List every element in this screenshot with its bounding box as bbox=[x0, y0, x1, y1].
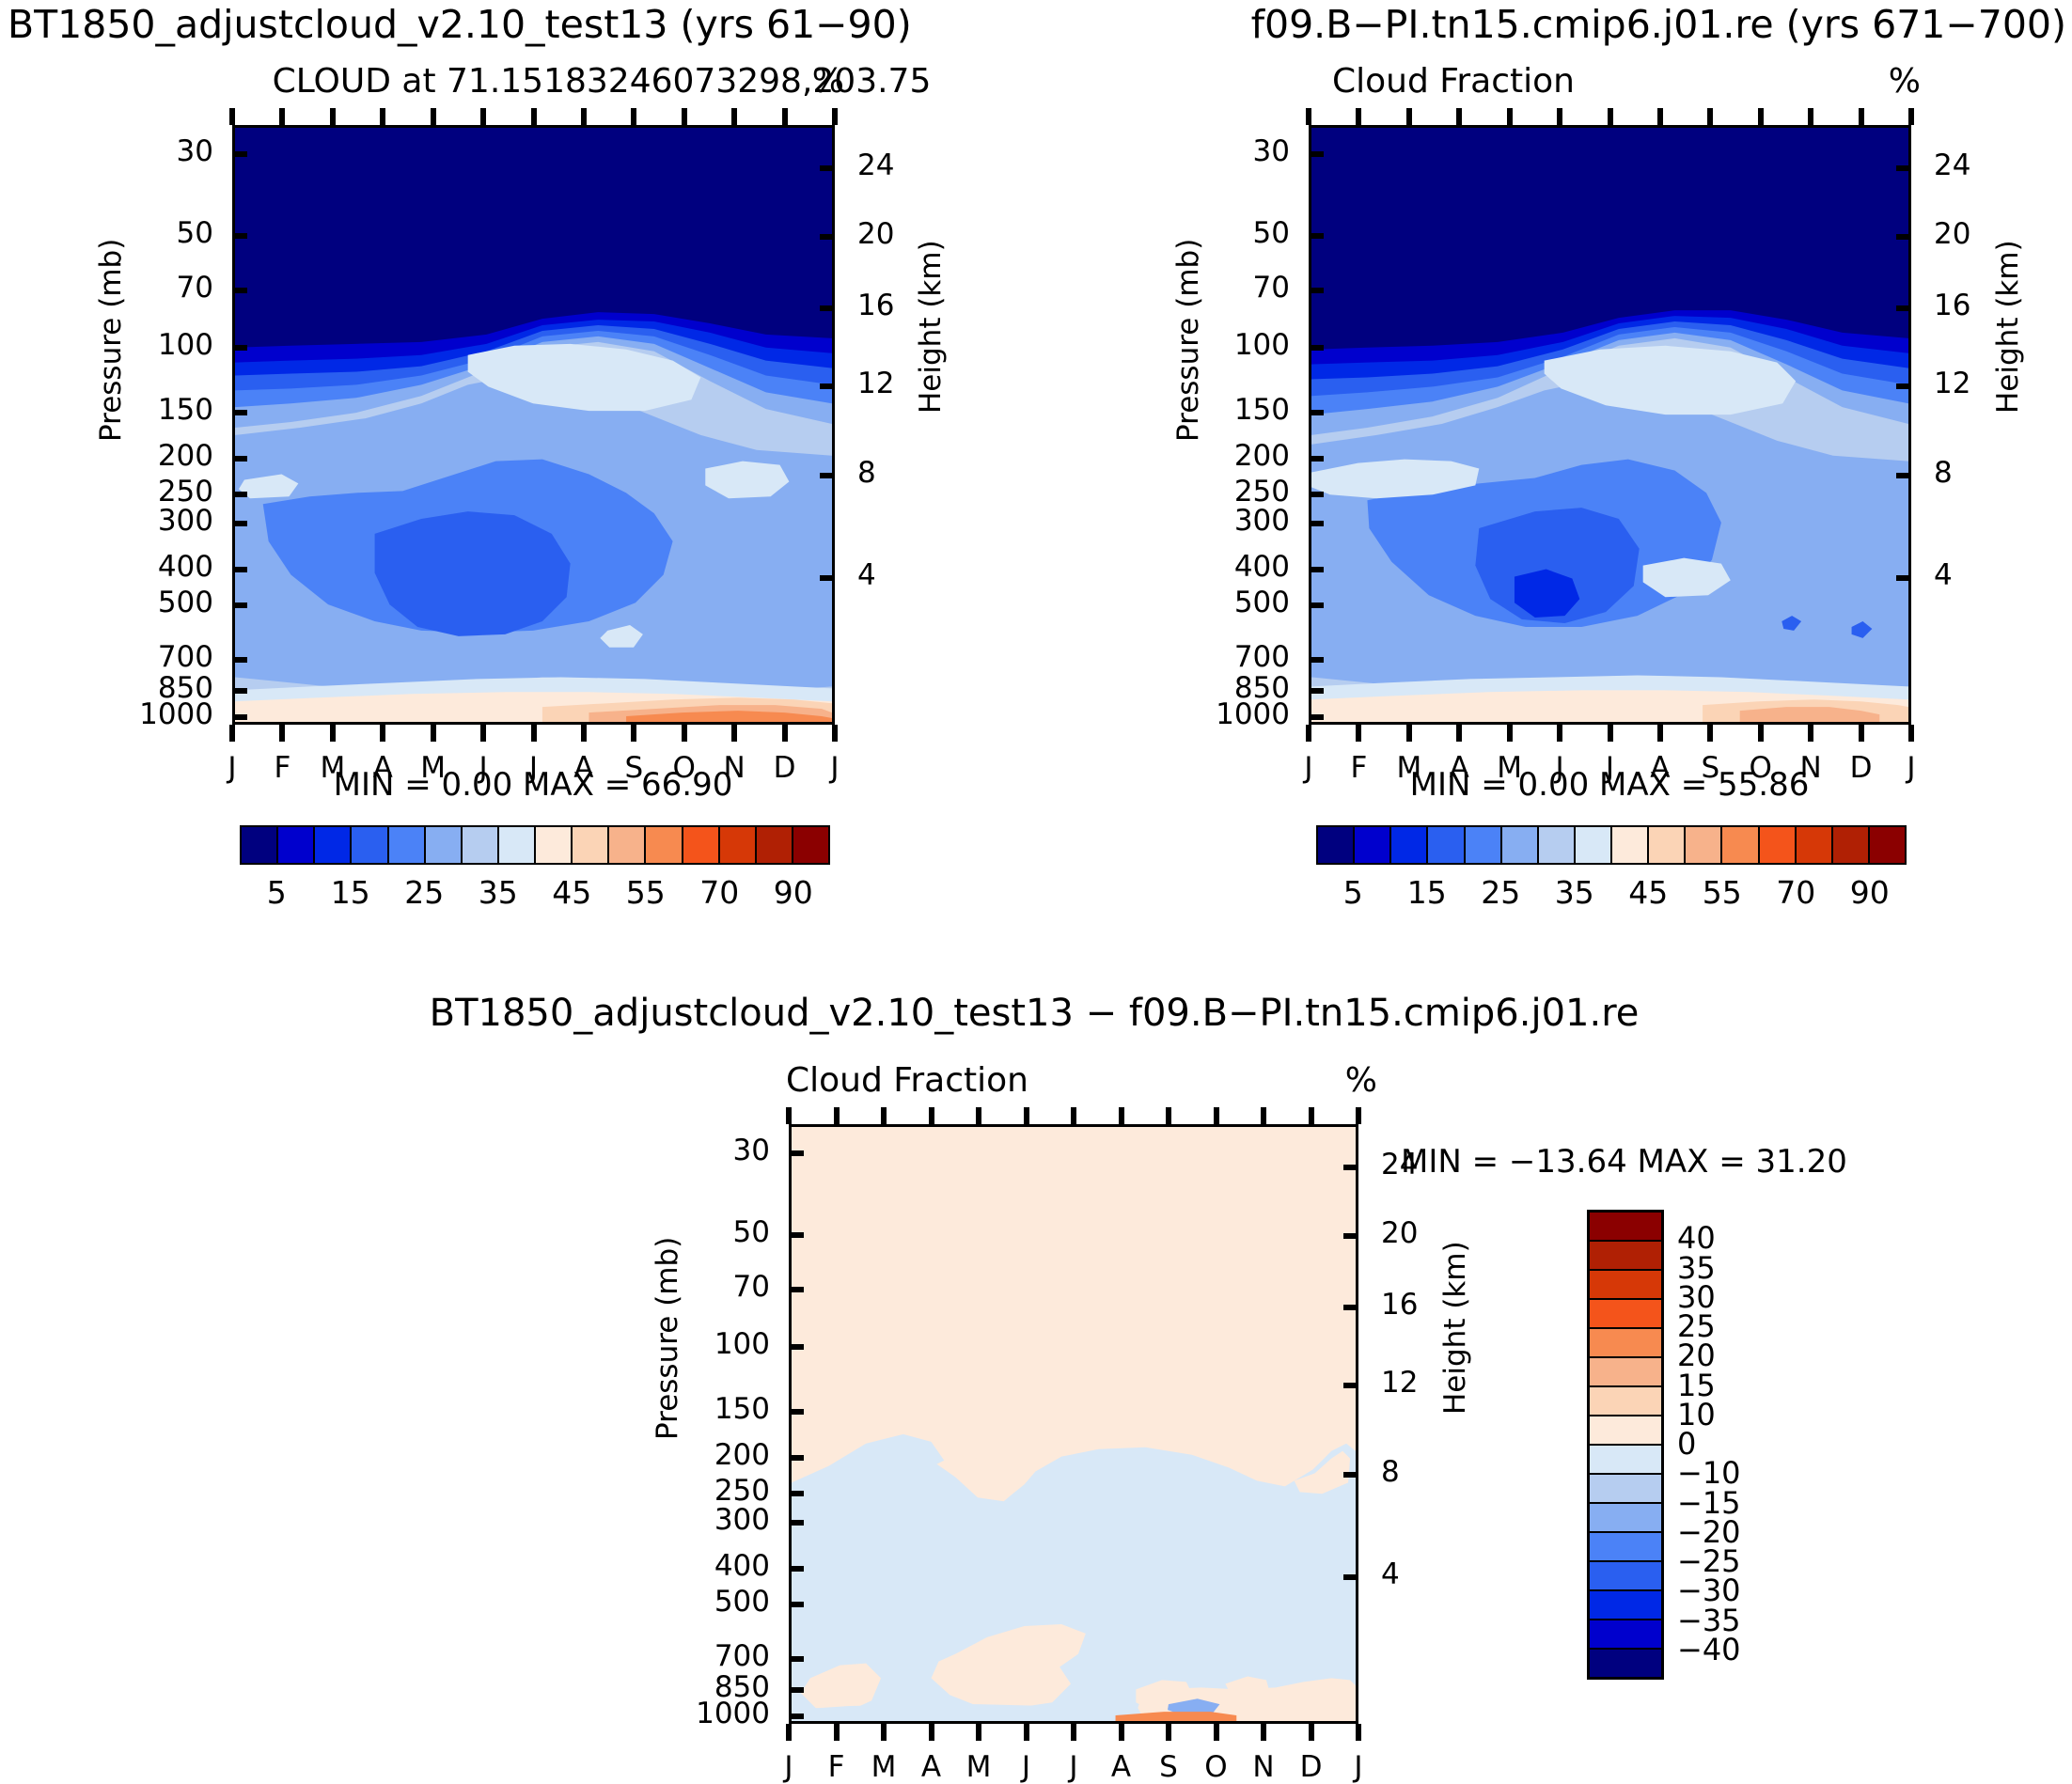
colorbar-cell bbox=[1590, 1620, 1661, 1650]
pressure-tick-label: 300 bbox=[1234, 504, 1290, 538]
axis-tick bbox=[380, 108, 385, 125]
axis-tick bbox=[1356, 1107, 1361, 1124]
diff-colorbar[interactable] bbox=[1587, 1210, 1664, 1680]
axis-tick bbox=[881, 1724, 887, 1741]
colorbar-cell bbox=[1590, 1271, 1661, 1300]
axis-tick bbox=[1657, 725, 1663, 742]
month-tick-label: A bbox=[1111, 1750, 1131, 1784]
month-tick-label: J bbox=[1304, 751, 1312, 785]
axis-tick bbox=[1343, 1574, 1358, 1580]
height-tick-label: 20 bbox=[857, 217, 894, 251]
pressure-tick-label: 100 bbox=[1234, 328, 1290, 362]
axis-tick bbox=[820, 473, 835, 478]
colorbar-tick-label: −40 bbox=[1677, 1632, 1741, 1667]
colorbar-cell bbox=[426, 827, 463, 863]
month-tick-label: M bbox=[871, 1750, 897, 1784]
colorbar-cell bbox=[1870, 827, 1905, 863]
colorbar-cell bbox=[1391, 827, 1428, 863]
axis-tick bbox=[1071, 1724, 1076, 1741]
colorbar-cell bbox=[1686, 827, 1722, 863]
height-tick-label: 20 bbox=[1934, 217, 1970, 251]
height-tick-label: 8 bbox=[1381, 1455, 1400, 1489]
axis-tick bbox=[820, 575, 835, 581]
axis-tick bbox=[1896, 165, 1911, 171]
axis-tick bbox=[1166, 1107, 1171, 1124]
colorbar-cell bbox=[389, 827, 426, 863]
diff-y2-axis-label: Height (km) bbox=[1438, 1241, 1472, 1415]
colorbar-cell bbox=[683, 827, 720, 863]
axis-tick bbox=[232, 657, 247, 663]
pressure-tick-label: 500 bbox=[1234, 586, 1290, 619]
pressure-tick-label: 200 bbox=[158, 439, 213, 473]
colorbar-tick-label: 25 bbox=[1481, 874, 1520, 911]
pressure-tick-label: 70 bbox=[1253, 271, 1290, 305]
height-tick-label: 4 bbox=[1934, 558, 1953, 592]
axis-tick bbox=[1306, 108, 1311, 125]
axis-tick bbox=[232, 233, 247, 239]
axis-tick bbox=[631, 108, 636, 125]
axis-tick bbox=[1896, 234, 1911, 240]
month-tick-label: J bbox=[1354, 1750, 1362, 1784]
axis-tick bbox=[789, 1491, 804, 1496]
colorbar-cell bbox=[352, 827, 388, 863]
axis-tick bbox=[1608, 725, 1613, 742]
axis-tick bbox=[279, 725, 285, 742]
pressure-tick-label: 50 bbox=[177, 216, 213, 250]
axis-tick bbox=[682, 108, 687, 125]
axis-tick bbox=[232, 688, 247, 694]
colorbar-cell bbox=[1318, 827, 1355, 863]
colorbar-cell bbox=[793, 827, 828, 863]
month-tick-label: F bbox=[1350, 751, 1367, 785]
left-panel-units: % bbox=[812, 62, 844, 101]
axis-tick bbox=[1309, 1107, 1314, 1124]
right-panel-subtitle: Cloud Fraction bbox=[1332, 62, 1575, 101]
axis-tick bbox=[1309, 233, 1324, 239]
colorbar-cell bbox=[1797, 827, 1833, 863]
axis-tick bbox=[330, 725, 336, 742]
month-tick-label: J bbox=[1907, 751, 1915, 785]
month-tick-label: D bbox=[1300, 1750, 1323, 1784]
colorbar-tick-label: 35 bbox=[479, 874, 518, 911]
colorbar-cell bbox=[1590, 1650, 1661, 1677]
colorbar-cell bbox=[1590, 1591, 1661, 1620]
colorbar-cell bbox=[1502, 827, 1539, 863]
axis-tick bbox=[1896, 383, 1911, 389]
axis-tick bbox=[1024, 1107, 1029, 1124]
axis-tick bbox=[789, 1344, 804, 1350]
axis-tick bbox=[786, 1107, 792, 1124]
colorbar-cell bbox=[463, 827, 499, 863]
colorbar-cell bbox=[1612, 827, 1649, 863]
axis-tick bbox=[1707, 108, 1713, 125]
axis-tick bbox=[786, 1724, 792, 1741]
axis-tick bbox=[480, 108, 486, 125]
left-panel-stats: MIN = 0.00 MAX = 66.90 bbox=[334, 766, 733, 804]
pressure-tick-label: 400 bbox=[1234, 550, 1290, 584]
colorbar-cell bbox=[1590, 1242, 1661, 1271]
axis-tick bbox=[1309, 657, 1324, 663]
diff-contour-plot[interactable] bbox=[789, 1124, 1358, 1724]
axis-tick bbox=[789, 1520, 804, 1526]
axis-tick bbox=[832, 108, 838, 125]
axis-tick bbox=[232, 492, 247, 497]
axis-tick bbox=[976, 1107, 981, 1124]
axis-tick bbox=[1343, 1233, 1358, 1239]
axis-tick bbox=[881, 1107, 887, 1124]
colorbar-tick-label: 45 bbox=[1628, 874, 1668, 911]
axis-tick bbox=[1119, 1107, 1124, 1124]
axis-tick bbox=[1406, 108, 1412, 125]
right-colorbar[interactable] bbox=[1316, 825, 1907, 865]
pressure-tick-label: 700 bbox=[714, 1639, 770, 1673]
axis-tick bbox=[1261, 1724, 1266, 1741]
pressure-tick-label: 150 bbox=[714, 1392, 770, 1426]
axis-tick bbox=[1908, 725, 1914, 742]
axis-tick bbox=[531, 725, 537, 742]
colorbar-cell bbox=[1760, 827, 1797, 863]
month-tick-label: M bbox=[966, 1750, 992, 1784]
axis-tick bbox=[1214, 1724, 1219, 1741]
axis-tick bbox=[789, 1150, 804, 1156]
colorbar-cell bbox=[1466, 827, 1502, 863]
axis-tick bbox=[789, 1656, 804, 1662]
axis-tick bbox=[789, 1409, 804, 1415]
axis-tick bbox=[232, 602, 247, 608]
pressure-tick-label: 100 bbox=[158, 328, 213, 362]
axis-tick bbox=[232, 410, 247, 415]
axis-tick bbox=[1309, 456, 1324, 462]
axis-tick bbox=[480, 725, 486, 742]
pressure-tick-label: 700 bbox=[158, 640, 213, 674]
colorbar-cell bbox=[1649, 827, 1686, 863]
left-y2-axis-label: Height (km) bbox=[914, 240, 948, 414]
axis-tick bbox=[1657, 108, 1663, 125]
axis-tick bbox=[682, 725, 687, 742]
month-tick-label: J bbox=[228, 751, 236, 785]
colorbar-cell bbox=[1590, 1475, 1661, 1504]
pressure-tick-label: 400 bbox=[714, 1549, 770, 1583]
axis-tick bbox=[820, 305, 835, 311]
colorbar-tick-label: 55 bbox=[1703, 874, 1742, 911]
colorbar-cell bbox=[1590, 1416, 1661, 1446]
colorbar-tick-label: 15 bbox=[1407, 874, 1447, 911]
month-tick-label: O bbox=[1204, 1750, 1227, 1784]
axis-tick bbox=[731, 725, 737, 742]
colorbar-tick-label: 35 bbox=[1555, 874, 1594, 911]
axis-tick bbox=[1908, 108, 1914, 125]
pressure-tick-label: 300 bbox=[158, 504, 213, 538]
axis-tick bbox=[1071, 1107, 1076, 1124]
colorbar-cell bbox=[757, 827, 793, 863]
colorbar-cell bbox=[1590, 1358, 1661, 1387]
axis-tick bbox=[789, 1566, 804, 1572]
axis-tick bbox=[232, 567, 247, 572]
height-tick-label: 8 bbox=[1934, 456, 1953, 490]
axis-tick bbox=[1758, 108, 1764, 125]
height-tick-label: 24 bbox=[857, 149, 894, 182]
diff-panel-subtitle: Cloud Fraction bbox=[786, 1061, 1028, 1100]
axis-tick bbox=[1309, 714, 1324, 720]
axis-tick bbox=[1309, 602, 1324, 608]
axis-tick bbox=[1896, 305, 1911, 311]
axis-tick bbox=[1808, 725, 1813, 742]
axis-tick bbox=[1343, 1472, 1358, 1478]
pressure-tick-label: 30 bbox=[733, 1134, 770, 1167]
colorbar-cell bbox=[609, 827, 646, 863]
axis-tick bbox=[232, 151, 247, 157]
left-contour-plot[interactable] bbox=[232, 125, 835, 725]
axis-tick bbox=[1309, 345, 1324, 351]
colorbar-tick-label: 5 bbox=[1343, 874, 1363, 911]
colorbar-cell bbox=[646, 827, 683, 863]
axis-tick bbox=[431, 108, 436, 125]
colorbar-cell bbox=[720, 827, 757, 863]
diff-panel-stats: MIN = −13.64 MAX = 31.20 bbox=[1401, 1143, 1847, 1181]
height-tick-label: 16 bbox=[1381, 1288, 1418, 1322]
colorbar-tick-label: 70 bbox=[1776, 874, 1815, 911]
right-y2-axis-label: Height (km) bbox=[1991, 240, 2025, 414]
axis-tick bbox=[1859, 725, 1864, 742]
right-panel-title: f09.B−PI.tn15.cmip6.j01.re (yrs 671−700) bbox=[1251, 2, 2066, 47]
month-tick-label: J bbox=[1022, 1750, 1030, 1784]
axis-tick bbox=[832, 725, 838, 742]
pressure-tick-label: 70 bbox=[177, 271, 213, 305]
left-y-axis-label: Pressure (mb) bbox=[94, 239, 128, 442]
axis-tick bbox=[581, 725, 587, 742]
axis-tick bbox=[1309, 567, 1324, 572]
colorbar-tick-label: 15 bbox=[331, 874, 370, 911]
colorbar-tick-label: 25 bbox=[404, 874, 444, 911]
axis-tick bbox=[731, 108, 737, 125]
colorbar-cell bbox=[1590, 1504, 1661, 1533]
pressure-tick-label: 100 bbox=[714, 1327, 770, 1361]
pressure-tick-label: 500 bbox=[158, 586, 213, 619]
right-y-axis-label: Pressure (mb) bbox=[1171, 239, 1205, 442]
height-tick-label: 20 bbox=[1381, 1216, 1418, 1250]
month-tick-label: D bbox=[774, 751, 796, 785]
axis-tick bbox=[929, 1724, 934, 1741]
axis-tick bbox=[1261, 1107, 1266, 1124]
colorbar-cell bbox=[573, 827, 609, 863]
axis-tick bbox=[1356, 1724, 1361, 1741]
axis-tick bbox=[1896, 473, 1911, 478]
axis-tick bbox=[1306, 725, 1311, 742]
axis-tick bbox=[1808, 108, 1813, 125]
axis-tick bbox=[431, 725, 436, 742]
pressure-tick-label: 500 bbox=[714, 1585, 770, 1619]
axis-tick bbox=[834, 1724, 840, 1741]
pressure-tick-label: 70 bbox=[733, 1270, 770, 1304]
axis-tick bbox=[1406, 725, 1412, 742]
pressure-tick-label: 150 bbox=[158, 393, 213, 427]
axis-tick bbox=[789, 1687, 804, 1693]
axis-tick bbox=[1356, 725, 1361, 742]
colorbar-cell bbox=[1428, 827, 1465, 863]
axis-tick bbox=[232, 714, 247, 720]
pressure-tick-label: 50 bbox=[733, 1215, 770, 1249]
pressure-tick-label: 1000 bbox=[1216, 697, 1290, 731]
axis-tick bbox=[229, 725, 235, 742]
axis-tick bbox=[1456, 725, 1462, 742]
diff-panel-title: BT1850_adjustcloud_v2.10_test13 − f09.B−… bbox=[430, 992, 1640, 1035]
month-tick-label: N bbox=[1252, 1750, 1274, 1784]
pressure-tick-label: 1000 bbox=[696, 1697, 770, 1730]
right-panel-stats: MIN = 0.00 MAX = 55.86 bbox=[1410, 766, 1810, 804]
pressure-tick-label: 700 bbox=[1234, 640, 1290, 674]
height-tick-label: 8 bbox=[857, 456, 876, 490]
colorbar-cell bbox=[315, 827, 352, 863]
axis-tick bbox=[1309, 688, 1324, 694]
colorbar-cell bbox=[499, 827, 536, 863]
axis-tick bbox=[820, 383, 835, 389]
axis-tick bbox=[1557, 725, 1562, 742]
axis-tick bbox=[1859, 108, 1864, 125]
axis-tick bbox=[976, 1724, 981, 1741]
axis-tick bbox=[229, 108, 235, 125]
left-panel-title: BT1850_adjustcloud_v2.10_test13 (yrs 61−… bbox=[8, 2, 912, 47]
pressure-tick-label: 1000 bbox=[139, 697, 213, 731]
axis-tick bbox=[581, 108, 587, 125]
height-tick-label: 16 bbox=[1934, 289, 1970, 322]
pressure-tick-label: 400 bbox=[158, 550, 213, 584]
axis-tick bbox=[631, 725, 636, 742]
colorbar-cell bbox=[1833, 827, 1870, 863]
month-tick-label: J bbox=[830, 751, 839, 785]
pressure-tick-label: 150 bbox=[1234, 393, 1290, 427]
colorbar-cell bbox=[278, 827, 315, 863]
axis-tick bbox=[834, 1107, 840, 1124]
axis-tick bbox=[1557, 108, 1562, 125]
colorbar-tick-label: 90 bbox=[1850, 874, 1890, 911]
axis-tick bbox=[1119, 1724, 1124, 1741]
axis-tick bbox=[1309, 410, 1324, 415]
diff-panel-units: % bbox=[1345, 1061, 1377, 1100]
month-tick-label: A bbox=[921, 1750, 941, 1784]
axis-tick bbox=[1309, 288, 1324, 293]
colorbar-cell bbox=[1590, 1300, 1661, 1329]
height-tick-label: 4 bbox=[1381, 1557, 1400, 1591]
axis-tick bbox=[1456, 108, 1462, 125]
axis-tick bbox=[1166, 1724, 1171, 1741]
axis-tick bbox=[782, 108, 788, 125]
axis-tick bbox=[232, 288, 247, 293]
axis-tick bbox=[232, 345, 247, 351]
axis-tick bbox=[789, 1232, 804, 1238]
axis-tick bbox=[279, 108, 285, 125]
month-tick-label: J bbox=[1069, 1750, 1077, 1784]
month-tick-label: D bbox=[1850, 751, 1873, 785]
colorbar-cell bbox=[1576, 827, 1612, 863]
axis-tick bbox=[1309, 1724, 1314, 1741]
axis-tick bbox=[1343, 1383, 1358, 1388]
axis-tick bbox=[789, 1455, 804, 1461]
month-tick-label: J bbox=[784, 1750, 793, 1784]
pressure-tick-label: 200 bbox=[1234, 439, 1290, 473]
axis-tick bbox=[531, 108, 537, 125]
month-tick-label: S bbox=[1159, 1750, 1178, 1784]
height-tick-label: 12 bbox=[1381, 1366, 1418, 1400]
pressure-tick-label: 30 bbox=[177, 134, 213, 168]
colorbar-cell bbox=[1590, 1329, 1661, 1358]
axis-tick bbox=[1356, 108, 1361, 125]
axis-tick bbox=[1507, 108, 1513, 125]
height-tick-label: 24 bbox=[1934, 149, 1970, 182]
pressure-tick-label: 300 bbox=[714, 1503, 770, 1537]
right-panel-units: % bbox=[1889, 62, 1921, 101]
axis-tick bbox=[1309, 521, 1324, 526]
axis-tick bbox=[929, 1107, 934, 1124]
axis-tick bbox=[1896, 575, 1911, 581]
diff-y-axis-label: Pressure (mb) bbox=[651, 1237, 684, 1440]
axis-tick bbox=[789, 1602, 804, 1607]
axis-tick bbox=[1343, 1305, 1358, 1310]
axis-tick bbox=[1608, 108, 1613, 125]
axis-tick bbox=[1309, 151, 1324, 157]
pressure-tick-label: 30 bbox=[1253, 134, 1290, 168]
axis-tick bbox=[820, 165, 835, 171]
left-colorbar[interactable] bbox=[240, 825, 830, 865]
colorbar-cell bbox=[1590, 1387, 1661, 1416]
colorbar-cell bbox=[1590, 1562, 1661, 1591]
axis-tick bbox=[1309, 492, 1324, 497]
pressure-tick-label: 200 bbox=[714, 1438, 770, 1472]
axis-tick bbox=[330, 108, 336, 125]
axis-tick bbox=[789, 1714, 804, 1719]
colorbar-tick-label: 90 bbox=[774, 874, 813, 911]
colorbar-cell bbox=[1590, 1446, 1661, 1475]
colorbar-tick-label: 70 bbox=[699, 874, 739, 911]
colorbar-cell bbox=[1590, 1213, 1661, 1242]
axis-tick bbox=[820, 234, 835, 240]
height-tick-label: 12 bbox=[857, 367, 894, 400]
axis-tick bbox=[232, 456, 247, 462]
height-tick-label: 4 bbox=[857, 558, 876, 592]
axis-tick bbox=[1024, 1724, 1029, 1741]
axis-tick bbox=[1343, 1165, 1358, 1170]
colorbar-tick-label: 5 bbox=[267, 874, 287, 911]
colorbar-cell bbox=[536, 827, 573, 863]
height-tick-label: 16 bbox=[857, 289, 894, 322]
colorbar-cell bbox=[242, 827, 278, 863]
colorbar-cell bbox=[1590, 1533, 1661, 1562]
pressure-tick-label: 50 bbox=[1253, 216, 1290, 250]
axis-tick bbox=[782, 725, 788, 742]
axis-tick bbox=[1214, 1107, 1219, 1124]
axis-tick bbox=[1707, 725, 1713, 742]
colorbar-cell bbox=[1539, 827, 1576, 863]
month-tick-label: F bbox=[828, 1750, 845, 1784]
right-contour-plot[interactable] bbox=[1309, 125, 1911, 725]
colorbar-tick-label: 45 bbox=[552, 874, 591, 911]
colorbar-cell bbox=[1355, 827, 1391, 863]
axis-tick bbox=[232, 521, 247, 526]
axis-tick bbox=[380, 725, 385, 742]
month-tick-label: F bbox=[274, 751, 290, 785]
axis-tick bbox=[1758, 725, 1764, 742]
colorbar-cell bbox=[1722, 827, 1759, 863]
axis-tick bbox=[1507, 725, 1513, 742]
colorbar-tick-label: 55 bbox=[626, 874, 666, 911]
axis-tick bbox=[789, 1287, 804, 1292]
height-tick-label: 12 bbox=[1934, 367, 1970, 400]
